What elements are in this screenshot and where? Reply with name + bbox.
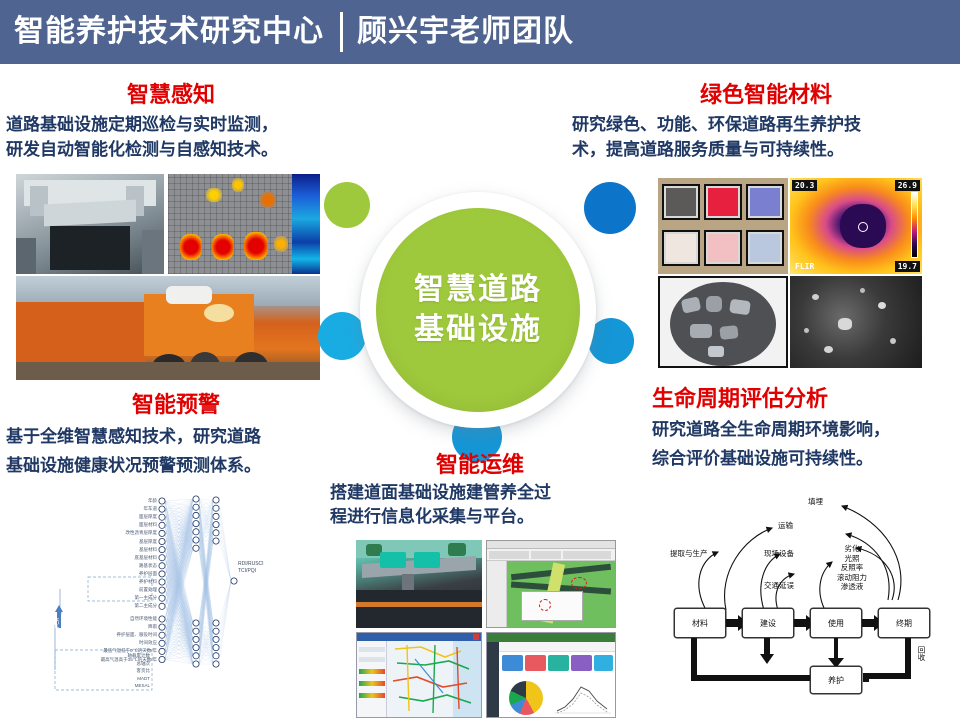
lca-label-extraction-production: 提取与生产 (670, 548, 708, 559)
nn-input-node-0 (159, 498, 165, 504)
slide-header: 智能养护技术研究中心 顾兴宇老师团队 (0, 0, 960, 64)
sem-micrograph-photo (790, 276, 922, 368)
section-sensing-title: 智慧感知 (6, 82, 336, 108)
section-lca-title: 生命周期评估分析 (652, 386, 960, 412)
section-sensing-body-line1: 道路基础设施定期巡检与实时监测， (6, 112, 336, 137)
nn-input-node-19 (159, 656, 165, 662)
dot-green-top-left-icon (324, 182, 370, 228)
nn-input-label-3: 面层材料 (139, 522, 157, 528)
nn-input-label-8: 路基状态 (139, 563, 157, 569)
nn-input-label-1: 年车道 (144, 506, 158, 512)
header-title-right: 顾兴宇老师团队 (357, 16, 574, 48)
nn-hidden2-node-0 (213, 497, 219, 503)
nn-input-node-9 (159, 571, 165, 577)
lca-label-onsite-equipment: 现场设备 (764, 548, 794, 559)
center-hub-graphic: 智慧道路 基础设施 (330, 180, 630, 440)
nn-hidden1-node-4 (193, 529, 199, 535)
lca-node-maintenance: 养护 (810, 666, 862, 694)
nn-hidden1-node-12 (193, 661, 199, 667)
dot-blue-top-right-icon (584, 182, 636, 234)
nn-input-node-12 (159, 595, 165, 601)
nn-hidden2-node-11 (213, 661, 219, 667)
section-lca: 生命周期评估分析 研究道路全生命周期环境影响， 综合评价基础设施可持续性。 (652, 386, 960, 473)
nn-input-label-2: 面层厚度 (139, 514, 157, 520)
nn-hidden1-node-1 (193, 504, 199, 510)
section-ops-body-line1: 搭建道面基础设施建管养全过 (330, 481, 630, 505)
nn-hidden1-node-6 (193, 545, 199, 551)
nn-hidden1-node-9 (193, 636, 199, 642)
nn-input-node-6 (159, 547, 165, 553)
gis-network-lines (387, 641, 481, 717)
flir-temp-min: 19.7 (895, 261, 920, 272)
lca-label-recycle: 回收 (916, 646, 927, 661)
lca-node-construction: 建设 (742, 608, 794, 638)
life-cycle-assessment-diagram: 材料 建设 使用 终期 养护 填埋 运输 现场设备 提取与生产 交通延误 劣化 … (660, 488, 956, 716)
lca-impact-list: 劣化 光照 反照率 滚动阻力 渗透液 (822, 544, 882, 592)
nn-hidden2-node-5 (213, 538, 219, 544)
nn-hidden2-node-1 (213, 505, 219, 511)
lca-node-material: 材料 (674, 608, 726, 638)
nn-input-node-7 (159, 555, 165, 561)
center-label-line1: 智慧道路 (414, 270, 542, 310)
bim-software-screenshot (486, 540, 616, 628)
section-sensing-body-line2: 研发自动智能化检测与自感知技术。 (6, 137, 336, 162)
nn-boxed-label-3: MADT (137, 676, 150, 681)
nn-boxed-label-2: 客货比 (137, 668, 151, 674)
nn-hidden1-node-8 (193, 628, 199, 634)
nn-hidden2-node-7 (213, 628, 219, 634)
section-sensing: 智慧感知 道路基础设施定期巡检与实时监测， 研发自动智能化检测与自感知技术。 (6, 82, 336, 162)
road-milling-machine-photo (16, 276, 320, 380)
nn-input-label-12: 第一主成分 (135, 595, 158, 601)
lca-node-use: 使用 (810, 608, 862, 638)
pigment-tray-samples-photo (658, 178, 788, 274)
neural-network-svg: PCA (10, 495, 340, 717)
nn-hidden2-node-3 (213, 522, 219, 528)
dashboard-line-chart (555, 679, 611, 715)
nn-hidden1-node-10 (193, 645, 199, 651)
section-green-material-title: 绿色智能材料 (572, 82, 960, 108)
nn-hidden1-node-2 (193, 512, 199, 518)
neural-network-diagram: PCA RDI/RUSCI TCI/PQI 年龄年车道面层厚度面层材料改性沥青层… (10, 495, 340, 717)
nn-boxed-label-0: 轴载累计数 (128, 653, 151, 659)
asphalt-core-specimen-photo (658, 276, 788, 368)
section-green-material-body-line2: 术，提高道路服务质量与可持续性。 (572, 137, 960, 162)
lca-label-traffic-delay: 交通延误 (764, 580, 794, 591)
nn-hidden2-node-6 (213, 620, 219, 626)
nn-input-node-17 (159, 640, 165, 646)
section-warning-title: 智能预警 (6, 392, 346, 418)
nn-hidden1-node-11 (193, 653, 199, 659)
flir-brand-label: FLIR (792, 261, 817, 272)
nn-input-label-6: 基层材料 (139, 547, 157, 553)
nn-input-node-13 (159, 603, 165, 609)
section-warning: 智能预警 基于全维智慧感知技术，研究道路 基础设施健康状况预警预测体系。 (6, 392, 346, 480)
nn-input-label-10: 养护材料 (139, 579, 157, 585)
nn-input-node-3 (159, 522, 165, 528)
nn-hidden1-node-7 (193, 620, 199, 626)
gis-road-network-map-screenshot (356, 632, 482, 718)
dot-cyan-left-icon (318, 312, 366, 360)
section-ops: 智能运维 搭建道面基础设施建管养全过 程进行信息化采集与平台。 (330, 452, 630, 529)
nn-hidden2-node-2 (213, 513, 219, 519)
nn-input-node-11 (159, 587, 165, 593)
nn-input-label-11: 前置处理 (139, 587, 157, 593)
nn-input-lower-label-3: 时间效应 (139, 640, 157, 646)
flir-temp-cursor: 20.3 (792, 180, 817, 191)
center-circle: 智慧道路 基础设施 (376, 208, 580, 412)
nn-input-lower-label-0: 自然环境性能 (130, 616, 157, 622)
lca-svg (660, 488, 956, 716)
flir-thermal-image: 20.3 26.9 19.7 FLIR (790, 178, 922, 274)
nn-input-label-4: 改性沥青层厚度 (126, 530, 158, 536)
section-warning-body-line2: 基础设施健康状况预警预测体系。 (6, 451, 346, 480)
nn-hidden1-node-0 (193, 496, 199, 502)
section-lca-body-line2: 综合评价基础设施可持续性。 (652, 444, 960, 473)
nn-output-label: RDI/RUSCI TCI/PQI (238, 561, 264, 575)
nn-hidden2-node-4 (213, 530, 219, 536)
nn-input-label-9: 养护层面 (139, 571, 157, 577)
nn-hidden2-node-10 (213, 653, 219, 659)
nn-input-lower-label-1: 降雨 (148, 624, 157, 630)
header-divider (340, 12, 343, 52)
nn-output-node (231, 578, 237, 584)
nn-hidden1-node-5 (193, 537, 199, 543)
nn-input-lower-label-2: 养护层面、服役时间 (117, 632, 158, 638)
section-ops-title: 智能运维 (330, 452, 630, 478)
nn-input-node-5 (159, 538, 165, 544)
nn-input-label-5: 基层厚度 (139, 539, 157, 545)
section-warning-body-line1: 基于全维智慧感知技术，研究道路 (6, 422, 346, 451)
nn-input-node-8 (159, 563, 165, 569)
inspection-vehicle-photo (16, 174, 164, 274)
header-title-left: 智能养护技术研究中心 (14, 16, 324, 48)
slide-canvas: 智能养护技术研究中心 顾兴宇老师团队 智慧感知 道路基础设施定期巡检与实时监测，… (0, 0, 960, 720)
nn-input-node-18 (159, 648, 165, 654)
radar-heatmap-photo (168, 174, 320, 274)
nn-input-node-1 (159, 506, 165, 512)
nn-hidden1-node-3 (193, 521, 199, 527)
nn-input-node-2 (159, 514, 165, 520)
nn-input-node-4 (159, 530, 165, 536)
nn-hidden2-node-8 (213, 636, 219, 642)
nn-boxed-label-4: MESAL (135, 683, 150, 688)
svg-text:PCA: PCA (55, 617, 61, 628)
nn-input-node-16 (159, 632, 165, 638)
lca-label-landfill: 填埋 (808, 496, 823, 507)
management-dashboard-screenshot (486, 632, 616, 718)
center-label-line2: 基础设施 (414, 310, 542, 350)
nn-input-node-15 (159, 624, 165, 630)
flir-temp-max: 26.9 (895, 180, 920, 191)
section-green-material-body-line1: 研究绿色、功能、环保道路再生养护技 (572, 112, 960, 137)
nn-input-label-0: 年龄 (148, 498, 157, 504)
nn-input-node-14 (159, 616, 165, 622)
nn-input-label-13: 第二主成分 (135, 603, 158, 609)
nn-input-label-7: 底基层材料 (135, 555, 158, 561)
nn-boxed-label-1: 总轴次 (137, 661, 151, 667)
bim-bridge-model-screenshot (356, 540, 482, 628)
section-lca-body-line1: 研究道路全生命周期环境影响， (652, 415, 960, 444)
nn-hidden2-node-9 (213, 645, 219, 651)
section-ops-body-line2: 程进行信息化采集与平台。 (330, 505, 630, 529)
nn-input-node-10 (159, 579, 165, 585)
lca-label-transport: 运输 (778, 520, 793, 531)
section-green-material: 绿色智能材料 研究绿色、功能、环保道路再生养护技 术，提高道路服务质量与可持续性… (572, 82, 960, 162)
lca-node-endoflife: 终期 (878, 608, 930, 638)
